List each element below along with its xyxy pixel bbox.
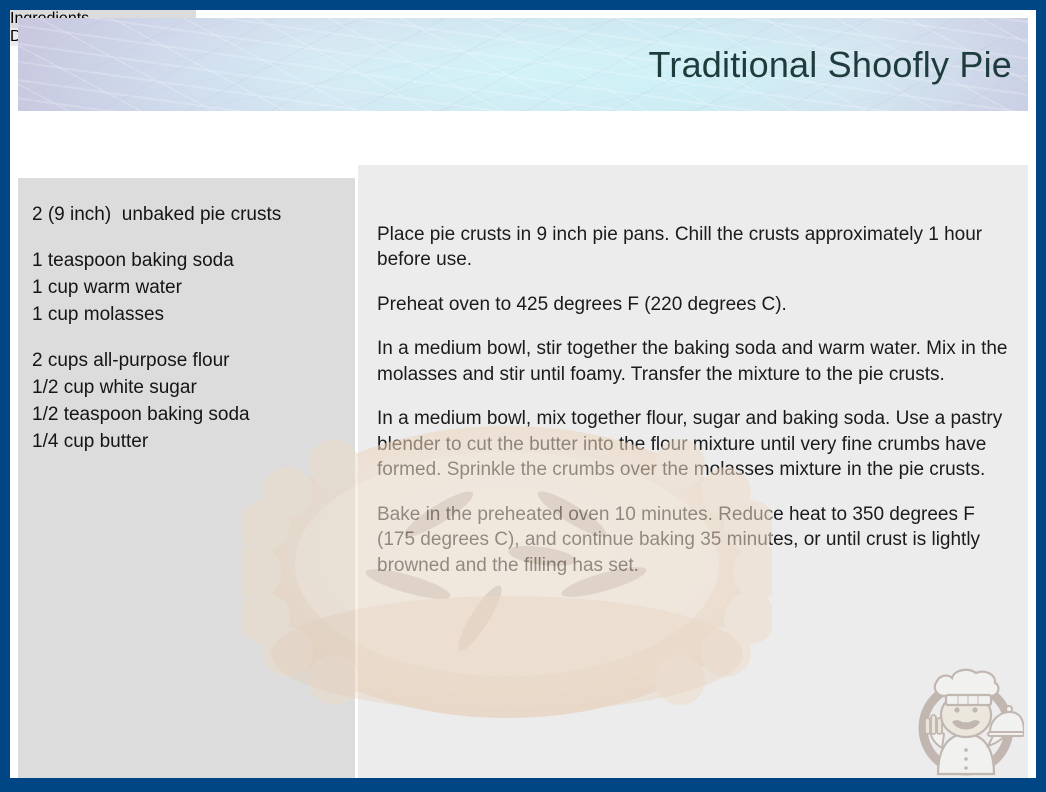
direction-step: In a medium bowl, stir together the baki…	[377, 336, 1013, 387]
ingredient-group: 2 (9 inch) unbaked pie crusts	[32, 202, 342, 229]
title-banner: Traditional Shoofly Pie	[18, 18, 1028, 111]
list-item: 1 teaspoon baking soda	[32, 248, 342, 275]
direction-step: In a medium bowl, mix together flour, su…	[377, 406, 1013, 482]
directions-list: Place pie crusts in 9 inch pie pans. Chi…	[377, 203, 1013, 596]
recipe-card: Traditional Shoofly Pie Ingredients 2 (9…	[0, 0, 1046, 792]
direction-step: Bake in the preheated oven 10 minutes. R…	[377, 502, 1013, 578]
recipe-page: Traditional Shoofly Pie Ingredients 2 (9…	[10, 10, 1036, 778]
list-item: 1 cup molasses	[32, 302, 342, 329]
ingredient-group: 2 cups all-purpose flour 1/2 cup white s…	[32, 348, 342, 456]
ingredients-list: 2 (9 inch) unbaked pie crusts 1 teaspoon…	[32, 202, 342, 475]
ingredient-group: 1 teaspoon baking soda 1 cup warm water …	[32, 248, 342, 329]
list-item: 1/4 cup butter	[32, 429, 342, 456]
list-item: 1/2 teaspoon baking soda	[32, 402, 342, 429]
list-item: 2 cups all-purpose flour	[32, 348, 342, 375]
list-item: 1 cup warm water	[32, 275, 342, 302]
direction-step: Place pie crusts in 9 inch pie pans. Chi…	[377, 222, 1013, 273]
list-item: 2 (9 inch) unbaked pie crusts	[32, 202, 342, 229]
list-item: 1/2 cup white sugar	[32, 375, 342, 402]
ingredients-panel: 2 (9 inch) unbaked pie crusts 1 teaspoon…	[18, 178, 355, 778]
page-title: Traditional Shoofly Pie	[649, 44, 1012, 86]
directions-panel: Place pie crusts in 9 inch pie pans. Chi…	[358, 165, 1028, 778]
direction-step: Preheat oven to 425 degrees F (220 degre…	[377, 292, 1013, 317]
